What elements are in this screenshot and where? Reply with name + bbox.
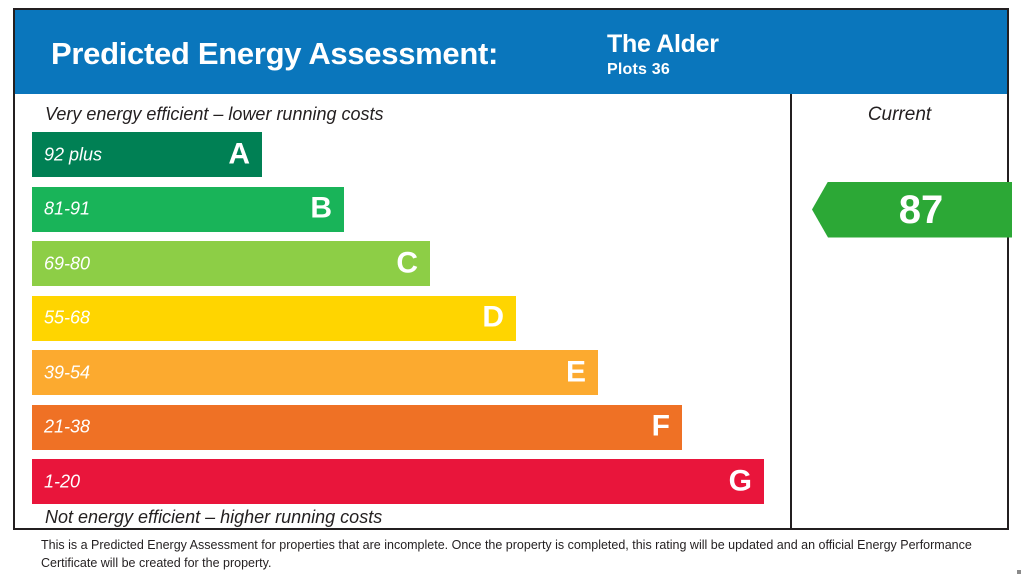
band-row-d: 55-68D bbox=[32, 296, 516, 341]
band-range-e: 39-54 bbox=[44, 362, 90, 383]
certificate-header: Predicted Energy Assessment: The Alder P… bbox=[15, 10, 1007, 94]
band-row-a: 92 plusA bbox=[32, 132, 262, 177]
corner-marker bbox=[1017, 570, 1021, 574]
band-range-f: 21-38 bbox=[44, 417, 90, 438]
property-plots: Plots 36 bbox=[607, 62, 719, 78]
band-row-g: 1-20G bbox=[32, 459, 764, 504]
band-range-a: 92 plus bbox=[44, 144, 102, 165]
band-row-c: 69-80C bbox=[32, 241, 430, 286]
scale-caption-top: Very energy efficient – lower running co… bbox=[45, 104, 384, 125]
band-letter-d: D bbox=[482, 302, 504, 332]
current-column-header: Current bbox=[792, 104, 1007, 126]
band-letter-b: B bbox=[310, 193, 332, 223]
band-letter-f: F bbox=[652, 411, 670, 441]
property-name: The Alder bbox=[607, 32, 719, 57]
current-rating-arrow: 87 bbox=[812, 182, 1012, 238]
band-list: 92 plusA81-91B69-80C55-68D39-54E21-38F1-… bbox=[32, 132, 782, 502]
band-row-b: 81-91B bbox=[32, 187, 344, 232]
band-letter-a: A bbox=[228, 139, 250, 169]
band-range-d: 55-68 bbox=[44, 308, 90, 329]
band-range-g: 1-20 bbox=[44, 471, 80, 492]
band-range-b: 81-91 bbox=[44, 199, 90, 220]
band-letter-e: E bbox=[566, 357, 586, 387]
footnote-text: This is a Predicted Energy Assessment fo… bbox=[41, 536, 991, 572]
scale-caption-bottom: Not energy efficient – higher running co… bbox=[45, 507, 382, 528]
property-info: The Alder Plots 36 bbox=[607, 32, 719, 78]
band-letter-g: G bbox=[729, 466, 752, 496]
current-rating-value: 87 bbox=[812, 182, 1012, 238]
band-row-f: 21-38F bbox=[32, 405, 682, 450]
band-row-e: 39-54E bbox=[32, 350, 598, 395]
epc-certificate: Predicted Energy Assessment: The Alder P… bbox=[0, 0, 1024, 576]
energy-rating-scale: Very energy efficient – lower running co… bbox=[15, 94, 790, 528]
certificate-body: Very energy efficient – lower running co… bbox=[15, 94, 1007, 528]
band-range-c: 69-80 bbox=[44, 253, 90, 274]
current-rating-column: Current 87 bbox=[792, 94, 1007, 528]
certificate-frame: Predicted Energy Assessment: The Alder P… bbox=[13, 8, 1009, 530]
band-letter-c: C bbox=[396, 248, 418, 278]
page-title: Predicted Energy Assessment: bbox=[51, 36, 498, 72]
